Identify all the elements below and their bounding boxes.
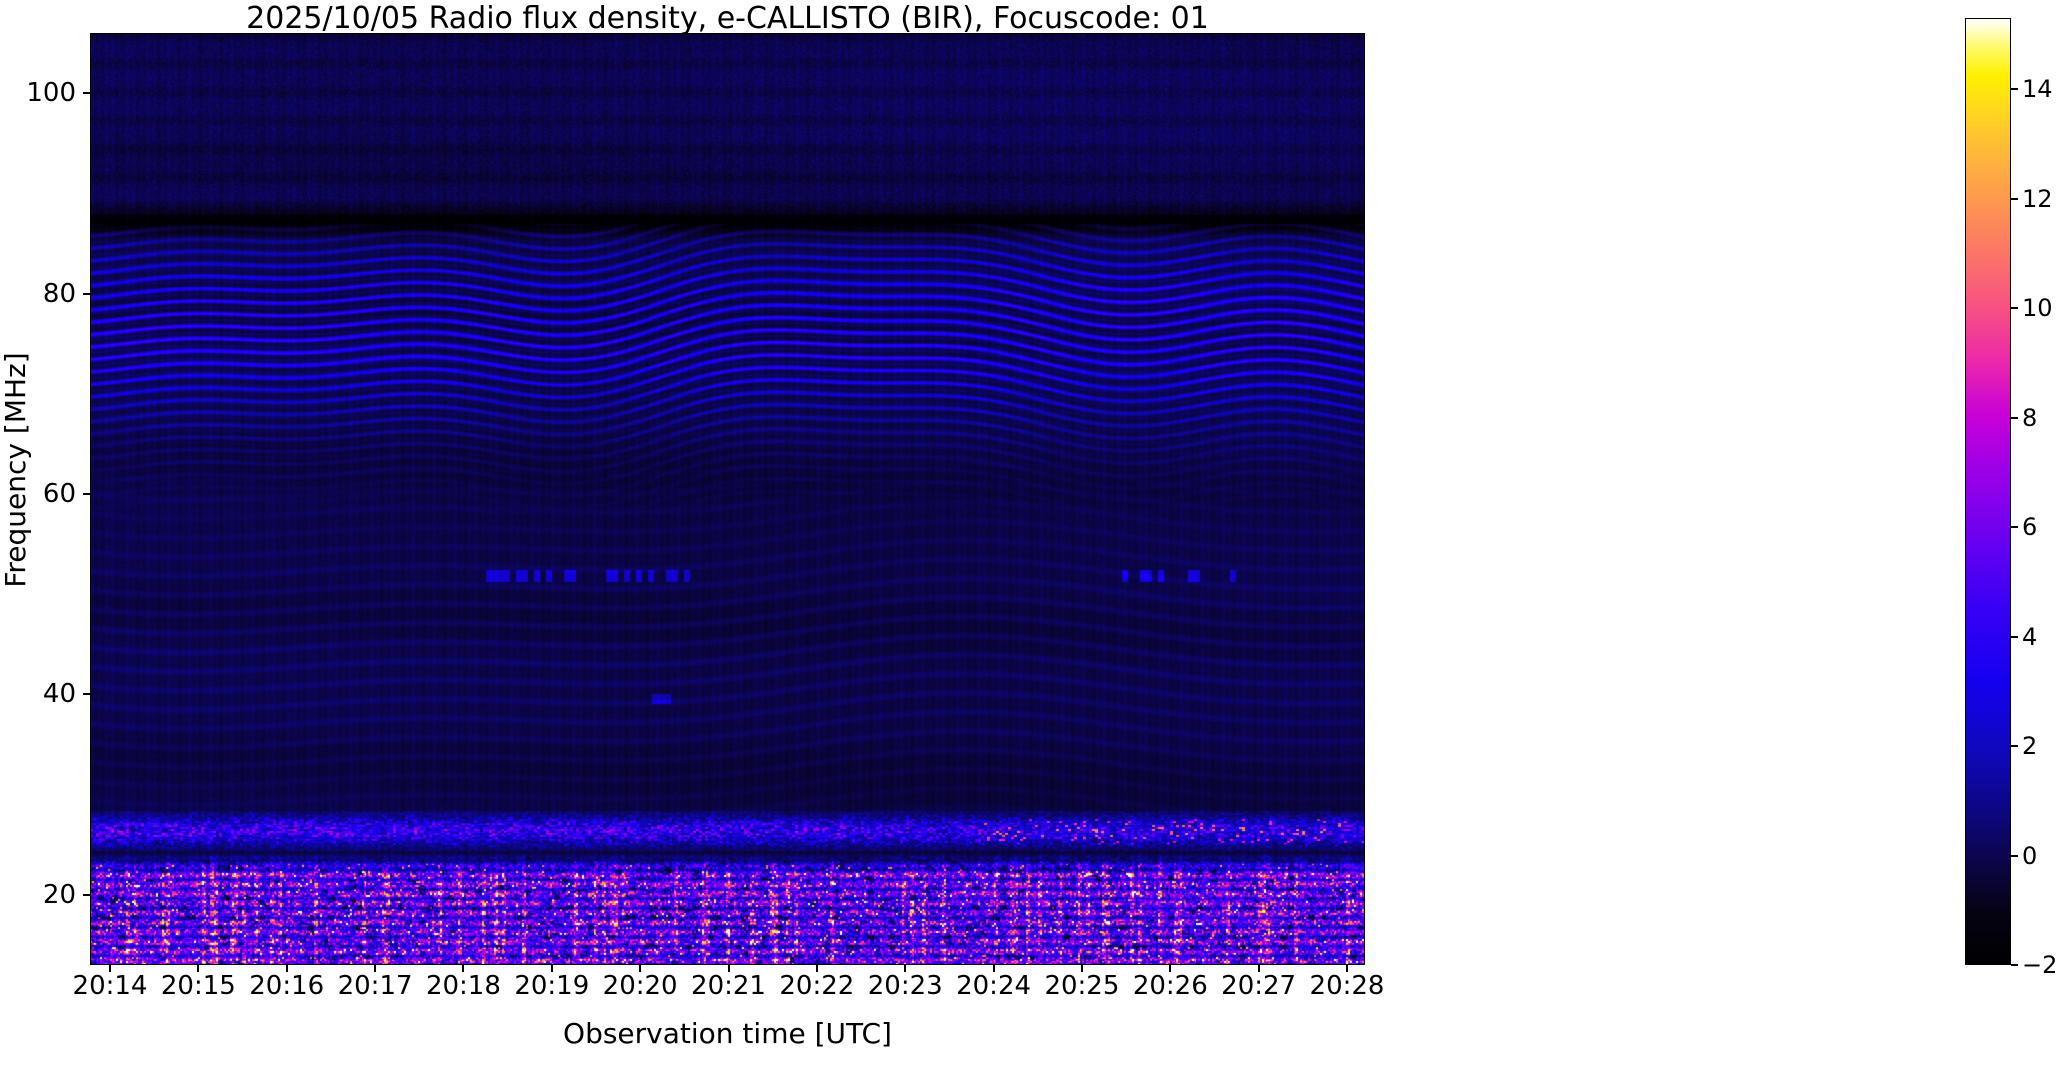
colorbar-tick-label: 8: [2022, 406, 2037, 430]
colorbar-tick-mark: [2011, 198, 2018, 200]
x-tick-mark: [1346, 965, 1348, 972]
x-tick-mark: [1169, 965, 1171, 972]
x-tick-mark: [551, 965, 553, 972]
colorbar-tick-label: 2: [2022, 734, 2037, 758]
colorbar-tick-label: −2: [2022, 953, 2057, 977]
x-tick-mark: [286, 965, 288, 972]
x-tick-mark: [1081, 965, 1083, 972]
x-tick-mark: [462, 965, 464, 972]
colorbar-tick-mark: [2011, 417, 2018, 419]
colorbar-tick-mark: [2011, 636, 2018, 638]
y-tick-label: 20: [6, 882, 76, 908]
y-tick-mark: [83, 493, 90, 495]
x-tick-label: 20:28: [1277, 972, 1417, 1000]
spectrogram-image: [90, 33, 1365, 965]
x-tick-mark: [728, 965, 730, 972]
page-title: 2025/10/05 Radio flux density, e-CALLIST…: [0, 2, 1455, 36]
colorbar-tick-label: 6: [2022, 515, 2037, 539]
colorbar-tick-mark: [2011, 88, 2018, 90]
x-tick-mark: [109, 965, 111, 972]
y-tick-mark: [83, 693, 90, 695]
colorbar-tick-label: 10: [2022, 296, 2053, 320]
colorbar-tick-mark: [2011, 307, 2018, 309]
colorbar-tick-mark: [2011, 964, 2018, 966]
y-tick-mark: [83, 293, 90, 295]
colorbar-tick-label: 12: [2022, 187, 2053, 211]
colorbar-tick-label: 0: [2022, 844, 2037, 868]
x-axis-label: Observation time [UTC]: [90, 1018, 1365, 1050]
y-tick-mark: [83, 894, 90, 896]
colorbar-gradient: [1965, 18, 2011, 965]
colorbar-tick-mark: [2011, 745, 2018, 747]
y-axis-label: Frequency [MHz]: [1, 70, 31, 870]
colorbar-tick-mark: [2011, 526, 2018, 528]
colorbar-tick-label: 4: [2022, 625, 2037, 649]
x-tick-mark: [197, 965, 199, 972]
x-tick-mark: [639, 965, 641, 972]
x-tick-mark: [1258, 965, 1260, 972]
figure-canvas: 2025/10/05 Radio flux density, e-CALLIST…: [0, 0, 2066, 1067]
x-tick-mark: [374, 965, 376, 972]
y-tick-mark: [83, 92, 90, 94]
spectrogram-axes[interactable]: [90, 33, 1365, 965]
x-tick-mark: [816, 965, 818, 972]
x-tick-mark: [993, 965, 995, 972]
x-tick-mark: [904, 965, 906, 972]
colorbar-tick-label: 14: [2022, 77, 2053, 101]
colorbar-tick-mark: [2011, 855, 2018, 857]
